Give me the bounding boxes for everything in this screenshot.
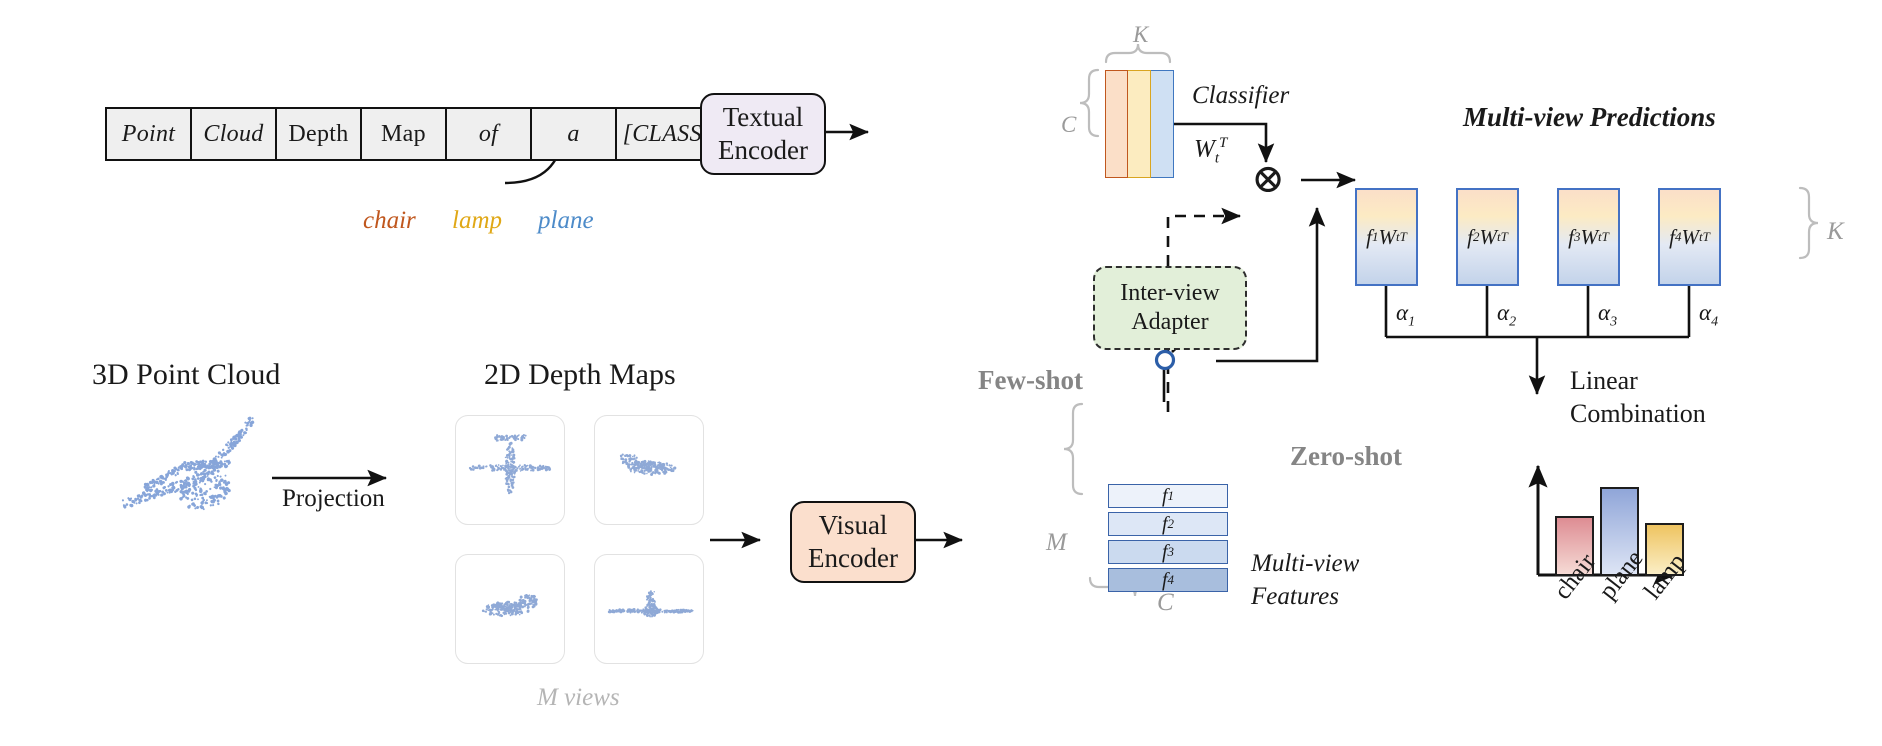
visual-encoder-block[interactable]: Visual Encoder <box>790 501 916 583</box>
multiview-feature-stack: f1 f2 f3 f4 <box>1108 484 1228 596</box>
bar-label-lamp: lamp <box>1639 549 1692 606</box>
depth-map-thumb-3[interactable] <box>455 554 565 664</box>
pred2-w: W <box>1479 225 1497 250</box>
alpha-label-2: α2 <box>1497 300 1516 331</box>
multiview-predictions-title: Multi-view Predictions <box>1463 102 1716 133</box>
prompt-cell-5[interactable]: a <box>532 109 617 159</box>
m-views-caption: M views <box>537 684 620 712</box>
depth-maps-title: 2D Depth Maps <box>484 358 676 392</box>
classifier-column-lamp <box>1128 70 1151 178</box>
predictions-brace-k-label: K <box>1827 218 1844 246</box>
features-caption-line2: Features <box>1251 581 1359 614</box>
prompt-template: Point Cloud Depth Map of a [CLASS] <box>105 107 719 161</box>
pred4-wsup: T <box>1703 229 1710 245</box>
feature-f3-sub: 3 <box>1168 544 1175 560</box>
classifier-brace-k-label: K <box>1133 22 1148 48</box>
linear-combination-line2: Combination <box>1570 397 1706 430</box>
few-shot-label: Few-shot <box>978 365 1083 396</box>
weight-subscript: t <box>1215 150 1219 166</box>
linear-combination-label: Linear Combination <box>1570 364 1706 431</box>
multiview-prediction-boxes: f1WtT f2WtT f3WtT f4WtT <box>1355 188 1721 286</box>
class-word-lamp[interactable]: lamp <box>452 207 502 235</box>
point-cloud-title: 3D Point Cloud <box>92 358 280 392</box>
alpha4-sub: 4 <box>1711 315 1718 330</box>
multiply-operator: ⊗ <box>1250 162 1286 198</box>
depth-map-thumb-2[interactable] <box>594 415 704 525</box>
pred2-wsup: T <box>1501 229 1508 245</box>
classifier-brace-c-label: C <box>1061 112 1076 138</box>
alpha-label-4: α4 <box>1699 300 1718 331</box>
projection-label: Projection <box>282 485 385 513</box>
textual-encoder-block[interactable]: Textual Encoder <box>700 93 826 175</box>
alpha-label-3: α3 <box>1598 300 1617 331</box>
prediction-box-3[interactable]: f3WtT <box>1557 188 1620 286</box>
weight-superscript: T <box>1219 135 1227 151</box>
prompt-cell-2[interactable]: Depth <box>277 109 362 159</box>
visual-encoder-line1: Visual <box>819 509 888 542</box>
alpha3-sub: 3 <box>1610 315 1617 330</box>
classifier-weight-label: WtT <box>1194 135 1227 167</box>
prompt-cell-0[interactable]: Point <box>107 109 192 159</box>
bar-label-plane: plane <box>1594 545 1649 605</box>
depth-map-rear-view-icon <box>456 555 564 663</box>
prompt-cell-1[interactable]: Cloud <box>192 109 277 159</box>
alpha1-sym: α <box>1396 300 1408 325</box>
feature-row-f3[interactable]: f3 <box>1108 540 1228 564</box>
depth-map-side-view-icon <box>595 416 703 524</box>
class-word-chair[interactable]: chair <box>363 207 416 235</box>
prompt-cell-3[interactable]: Map <box>362 109 447 159</box>
prompt-cell-4[interactable]: of <box>447 109 532 159</box>
bar-label-chair: chair <box>1549 549 1602 606</box>
classifier-column-plane <box>1151 70 1174 178</box>
alpha2-sym: α <box>1497 300 1509 325</box>
inter-view-adapter-block[interactable]: Inter-view Adapter <box>1093 266 1247 350</box>
features-brace-c-label: C <box>1157 589 1174 617</box>
depth-map-front-view-icon <box>456 416 564 524</box>
prediction-box-4[interactable]: f4WtT <box>1658 188 1721 286</box>
depth-map-top-view-icon <box>595 555 703 663</box>
multiview-features-caption: Multi-view Features <box>1251 548 1359 613</box>
depth-map-thumb-1[interactable] <box>455 415 565 525</box>
classifier-matrix <box>1105 70 1174 178</box>
pred1-wsup: T <box>1400 229 1407 245</box>
mode-switch-knob <box>1157 352 1174 369</box>
textual-encoder-line1: Textual <box>723 101 804 134</box>
feature-f4-sub: 4 <box>1168 572 1175 588</box>
zero-shot-label: Zero-shot <box>1290 441 1402 472</box>
alpha1-sub: 1 <box>1408 315 1415 330</box>
features-caption-line1: Multi-view <box>1251 548 1359 581</box>
alpha3-sym: α <box>1598 300 1610 325</box>
feature-row-f2[interactable]: f2 <box>1108 512 1228 536</box>
classifier-label: Classifier <box>1192 82 1289 110</box>
adapter-line1: Inter-view <box>1120 279 1219 308</box>
alpha2-sub: 2 <box>1509 315 1516 330</box>
point-cloud-3d <box>109 416 275 533</box>
textual-encoder-line2: Encoder <box>718 134 808 167</box>
classifier-column-chair <box>1105 70 1128 178</box>
pred1-w: W <box>1378 225 1396 250</box>
features-brace-m-label: M <box>1046 529 1067 557</box>
pred4-w: W <box>1681 225 1699 250</box>
prediction-box-1[interactable]: f1WtT <box>1355 188 1418 286</box>
adapter-line2: Adapter <box>1131 308 1208 337</box>
weight-base: W <box>1194 135 1215 162</box>
linear-combination-line1: Linear <box>1570 364 1706 397</box>
class-word-plane[interactable]: plane <box>538 207 594 235</box>
visual-encoder-line2: Encoder <box>808 542 898 575</box>
feature-f1-sub: 1 <box>1168 488 1175 504</box>
alpha4-sym: α <box>1699 300 1711 325</box>
prediction-box-2[interactable]: f2WtT <box>1456 188 1519 286</box>
feature-f2-sub: 2 <box>1168 516 1175 532</box>
depth-map-thumb-4[interactable] <box>594 554 704 664</box>
alpha-label-1: α1 <box>1396 300 1415 331</box>
feature-row-f1[interactable]: f1 <box>1108 484 1228 508</box>
pred3-w: W <box>1580 225 1598 250</box>
pred3-wsup: T <box>1602 229 1609 245</box>
